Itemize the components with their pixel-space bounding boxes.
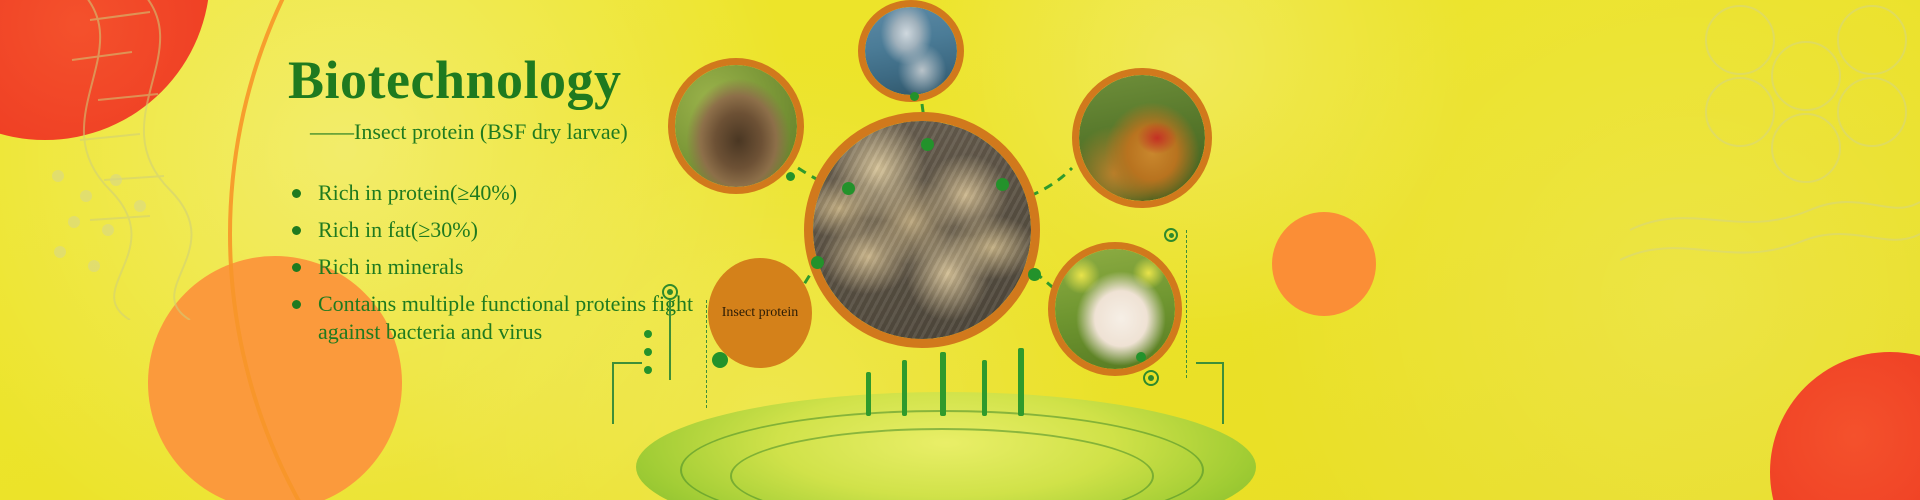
list-item-label: Rich in protein(≥40%)	[318, 180, 517, 205]
decor-grass-blade	[940, 352, 946, 416]
pig-photo[interactable]	[1048, 242, 1182, 376]
node-dot	[644, 348, 652, 356]
bullet-dot-icon	[292, 226, 301, 235]
duck-photo-image	[675, 65, 797, 187]
marker-ring-dot-icon	[662, 284, 678, 300]
decor-grass-blade	[902, 360, 907, 416]
decor-grass-blade	[866, 372, 871, 416]
node-dot	[786, 172, 795, 181]
larvae-photo-image	[813, 121, 1031, 339]
connector-vertical-dashed-right	[1186, 230, 1187, 378]
list-item-label: Contains multiple functional proteins fi…	[318, 291, 693, 344]
decor-grass-blade	[982, 360, 987, 416]
decor-bracket-right	[1196, 362, 1224, 424]
marker-ring-dot-icon	[1143, 370, 1159, 386]
node-dot	[644, 330, 652, 338]
fish-photo-image	[865, 7, 957, 95]
decor-grass-blade	[1018, 348, 1024, 416]
node-dot	[811, 256, 824, 269]
node-dot	[921, 138, 934, 151]
decor-bracket-left	[612, 362, 642, 424]
node-dot	[996, 178, 1009, 191]
list-item: Contains multiple functional proteins fi…	[288, 290, 703, 346]
node-dot	[910, 92, 919, 101]
page-title: Biotechnology	[288, 52, 708, 109]
list-item-label: Rich in fat(≥30%)	[318, 217, 478, 242]
insect-protein-bubble[interactable]: Insect protein	[708, 258, 812, 368]
duck-photo[interactable]	[668, 58, 804, 194]
decor-blob-red-bottom-right	[1770, 352, 1920, 500]
bullet-dot-icon	[292, 300, 301, 309]
larvae-texture	[813, 121, 1031, 339]
decor-molecule-right	[1620, 0, 1920, 280]
node-dot	[1028, 268, 1041, 281]
node-dot	[1136, 352, 1146, 362]
node-dot	[644, 366, 652, 374]
biotechnology-banner: Biotechnology ——Insect protein (BSF dry …	[0, 0, 1920, 500]
node-dot	[842, 182, 855, 195]
chicken-photo[interactable]	[1072, 68, 1212, 208]
chicken-photo-image	[1079, 75, 1205, 201]
decor-blob-red-top-left	[0, 0, 210, 140]
marker-ring-dot-icon	[1164, 228, 1178, 242]
insect-protein-label: Insect protein	[722, 305, 799, 321]
text-block: Biotechnology ——Insect protein (BSF dry …	[288, 52, 708, 355]
connector-vertical-solid	[669, 300, 671, 380]
page-subtitle: ——Insect protein (BSF dry larvae)	[310, 119, 708, 145]
connector-vertical-dashed-left	[706, 300, 707, 408]
list-item: Rich in minerals	[288, 253, 708, 281]
bullet-dot-icon	[292, 263, 301, 272]
bullet-dot-icon	[292, 189, 301, 198]
feature-list: Rich in protein(≥40%) Rich in fat(≥30%) …	[288, 179, 708, 347]
pig-photo-image	[1055, 249, 1175, 369]
list-item: Rich in fat(≥30%)	[288, 216, 708, 244]
list-item-label: Rich in minerals	[318, 254, 463, 279]
fish-photo[interactable]	[858, 0, 964, 102]
list-item: Rich in protein(≥40%)	[288, 179, 708, 207]
